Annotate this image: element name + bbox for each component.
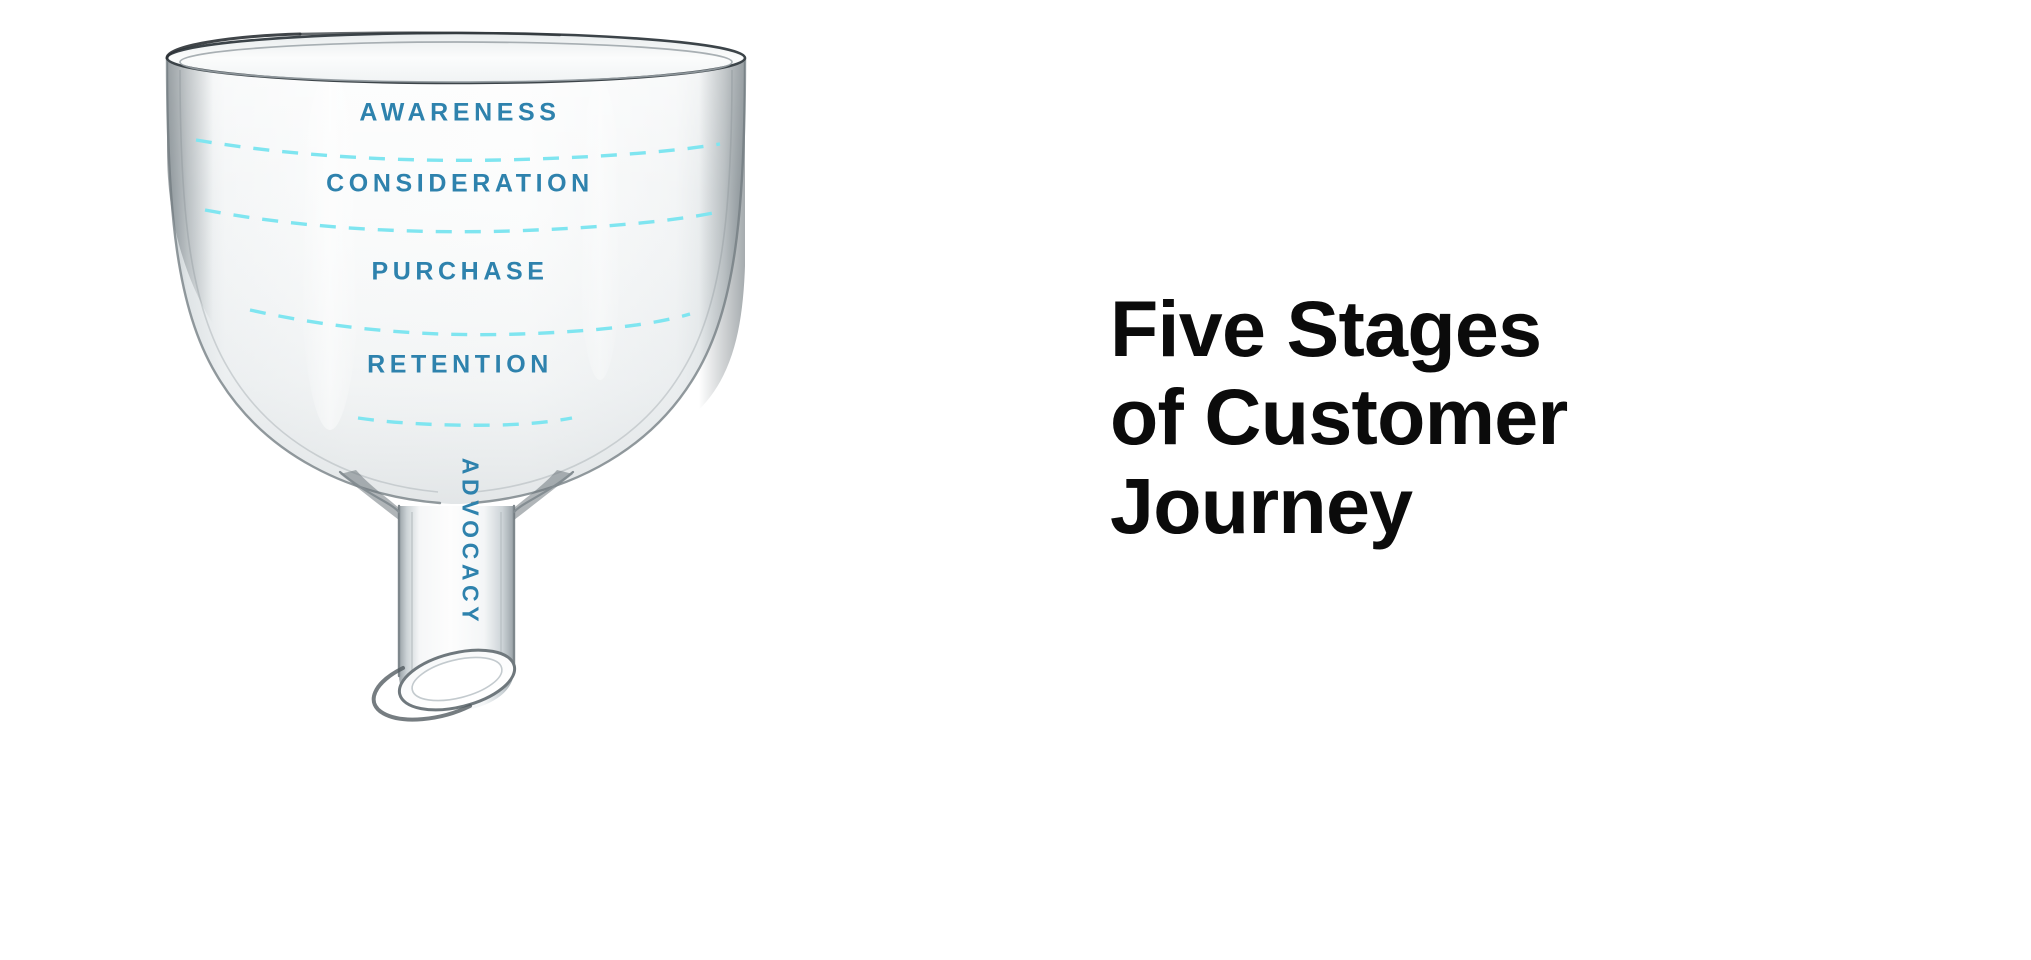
- headline-block: Five Stages of Customer Journey: [1110, 285, 1930, 550]
- stage-label-consideration: CONSIDERATION: [326, 170, 594, 199]
- stage-label-purchase: PURCHASE: [371, 258, 548, 287]
- page-title: Five Stages of Customer Journey: [1110, 285, 1930, 550]
- stage-label-advocacy-text: ADVOCACY: [457, 458, 484, 626]
- funnel-illustration: [0, 0, 1015, 960]
- slide-canvas: AWARENESS CONSIDERATION PURCHASE RETENTI…: [0, 0, 2031, 960]
- stage-label-retention: RETENTION: [367, 351, 553, 380]
- stage-label-awareness: AWARENESS: [359, 99, 560, 128]
- funnel-graphic: AWARENESS CONSIDERATION PURCHASE RETENTI…: [0, 0, 1015, 960]
- funnel-rim: [167, 33, 745, 83]
